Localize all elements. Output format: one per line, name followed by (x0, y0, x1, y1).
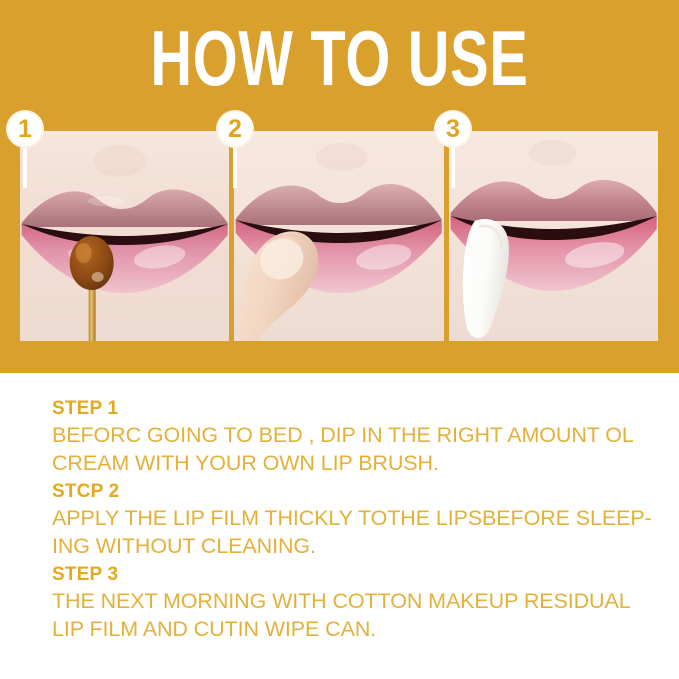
step-badge-1: 1 (8, 112, 42, 146)
step-3-body: THE NEXT MORNING WITH COTTON MAKEUP RESI… (52, 587, 652, 643)
step-1-heading: STEP 1 (52, 396, 652, 421)
step-3-heading: STEP 3 (52, 562, 652, 587)
step-2-heading: STCP 2 (52, 479, 652, 504)
how-to-use-infographic: HOW TO USE (0, 0, 679, 679)
badge-stem-3 (451, 140, 455, 188)
lips-finger-illustration (234, 131, 443, 341)
photo-step-2 (234, 131, 443, 341)
step-1-body: BEFORC GOING TO BED , DIP IN THE RIGHT A… (52, 421, 652, 477)
badge-stem-2 (233, 140, 237, 188)
lips-applicator-illustration (20, 131, 229, 341)
photo-step-1 (20, 131, 229, 341)
page-title: HOW TO USE (88, 22, 590, 94)
instructions-list: STEP 1 BEFORC GOING TO BED , DIP IN THE … (52, 396, 652, 645)
photo-step-3 (449, 131, 658, 341)
badge-stem-1 (23, 140, 27, 188)
step-2-body: APPLY THE LIP FILM THICKLY TOTHE LIPSBEF… (52, 504, 652, 560)
step-badge-3: 3 (436, 112, 470, 146)
lips-cotton-pad-illustration (449, 131, 658, 341)
step-badge-2: 2 (218, 112, 252, 146)
photo-strip (20, 131, 658, 341)
